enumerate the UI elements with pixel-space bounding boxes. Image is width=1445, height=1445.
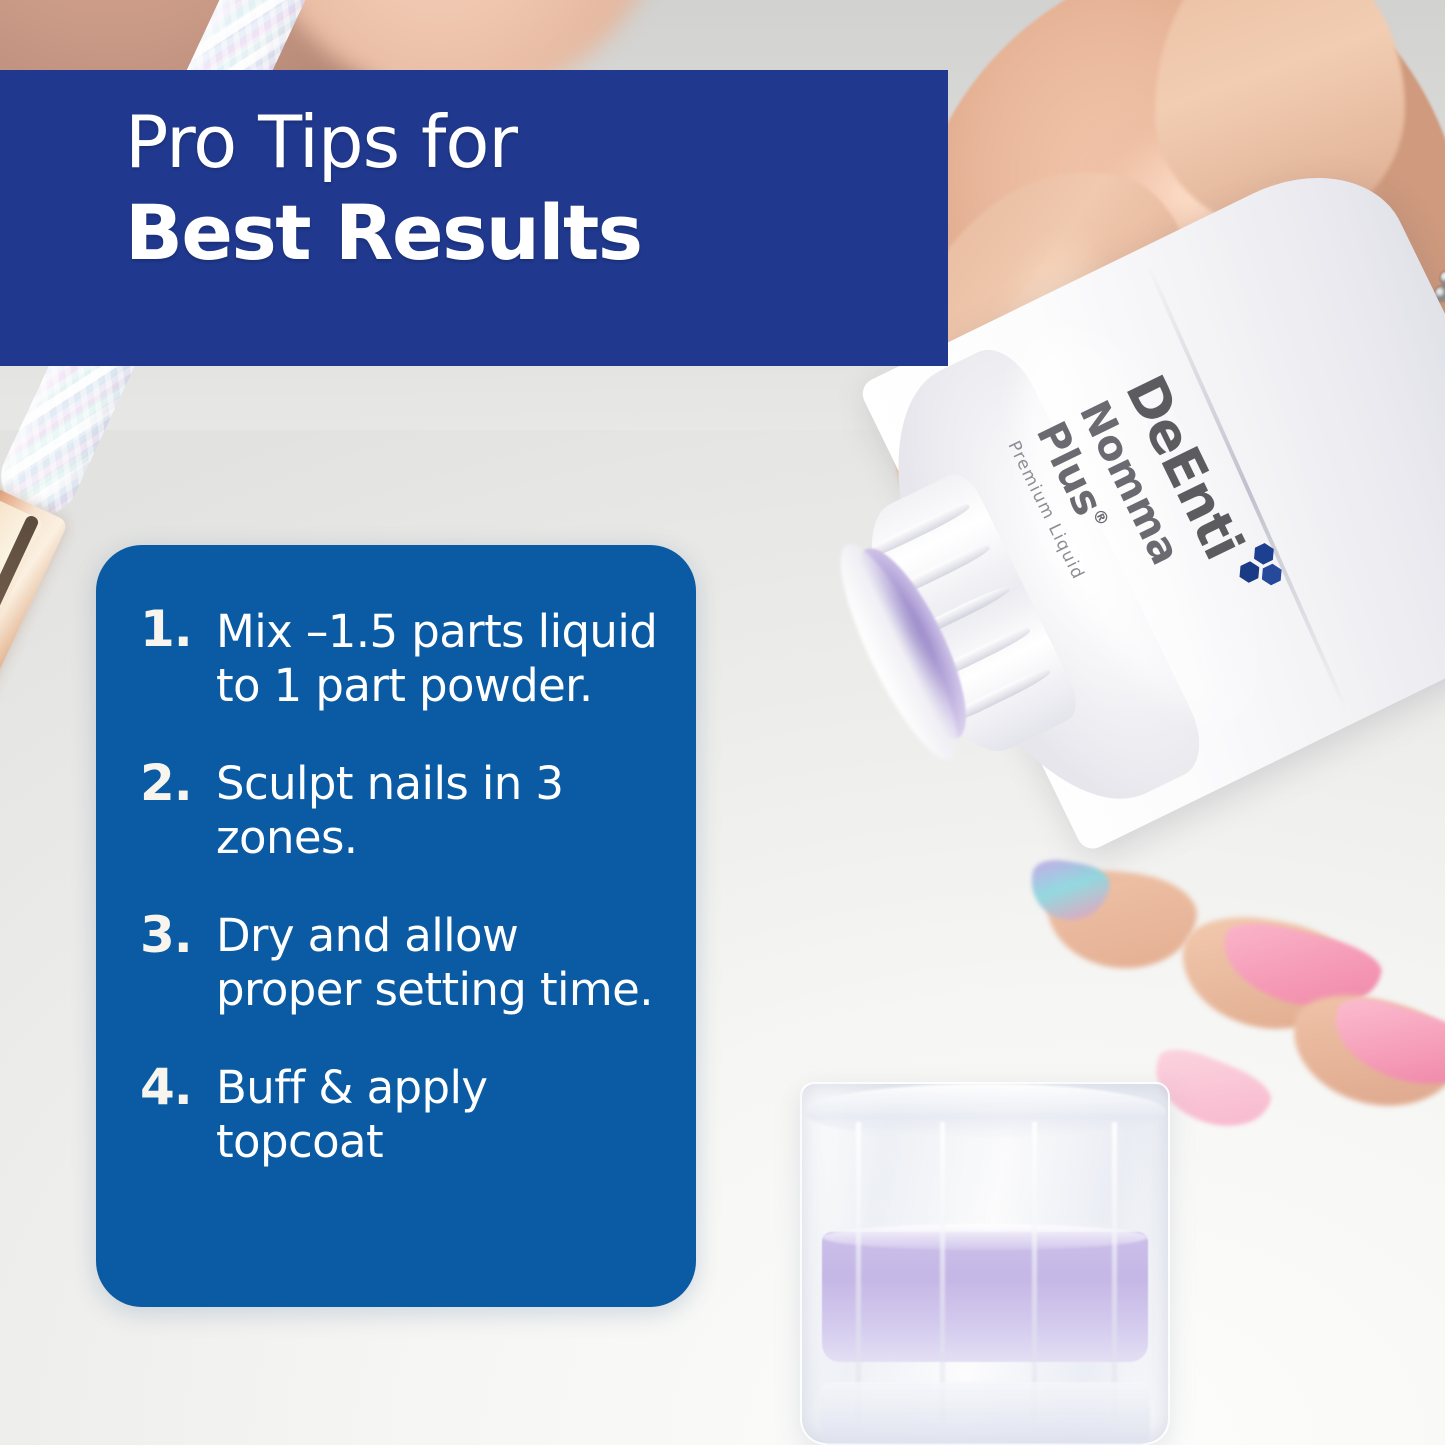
list-item: 4. Buff & apply topcoat xyxy=(140,1061,678,1169)
header-line-1: Pro Tips for xyxy=(125,104,517,182)
dish-rib-1 xyxy=(856,1122,861,1422)
glass-dappen-dish xyxy=(800,1082,1170,1445)
tip-text: Dry and allow proper setting time. xyxy=(216,909,653,1017)
tip-text: Buff & apply topcoat xyxy=(216,1061,487,1169)
promotional-infographic: DeEnti Nomma Plus® Premium Liquid xyxy=(0,0,1445,1445)
tip-text: Mix –1.5 parts liquid to 1 part powder. xyxy=(216,603,657,713)
tip-number: 4. xyxy=(140,1061,216,1114)
dish-rib-2 xyxy=(940,1122,945,1422)
header-line-2: Best Results xyxy=(125,192,642,274)
dish-rib-4 xyxy=(1112,1122,1117,1422)
dish-rib-3 xyxy=(1032,1122,1037,1422)
tips-list: 1. Mix –1.5 parts liquid to 1 part powde… xyxy=(140,603,678,1169)
dish-liquid-surface xyxy=(822,1224,1148,1250)
tip-text: Sculpt nails in 3 zones. xyxy=(216,757,563,865)
list-item: 3. Dry and allow proper setting time. xyxy=(140,909,678,1017)
list-item: 1. Mix –1.5 parts liquid to 1 part powde… xyxy=(140,603,678,713)
tip-number: 1. xyxy=(140,603,216,656)
tip-number: 2. xyxy=(140,757,216,810)
dish-base xyxy=(820,1382,1150,1444)
header-banner: Pro Tips for Best Results xyxy=(0,70,948,366)
tips-card: 1. Mix –1.5 parts liquid to 1 part powde… xyxy=(96,545,696,1307)
tip-number: 3. xyxy=(140,909,216,962)
dish-lavender-liquid xyxy=(822,1232,1148,1362)
list-item: 2. Sculpt nails in 3 zones. xyxy=(140,757,678,865)
